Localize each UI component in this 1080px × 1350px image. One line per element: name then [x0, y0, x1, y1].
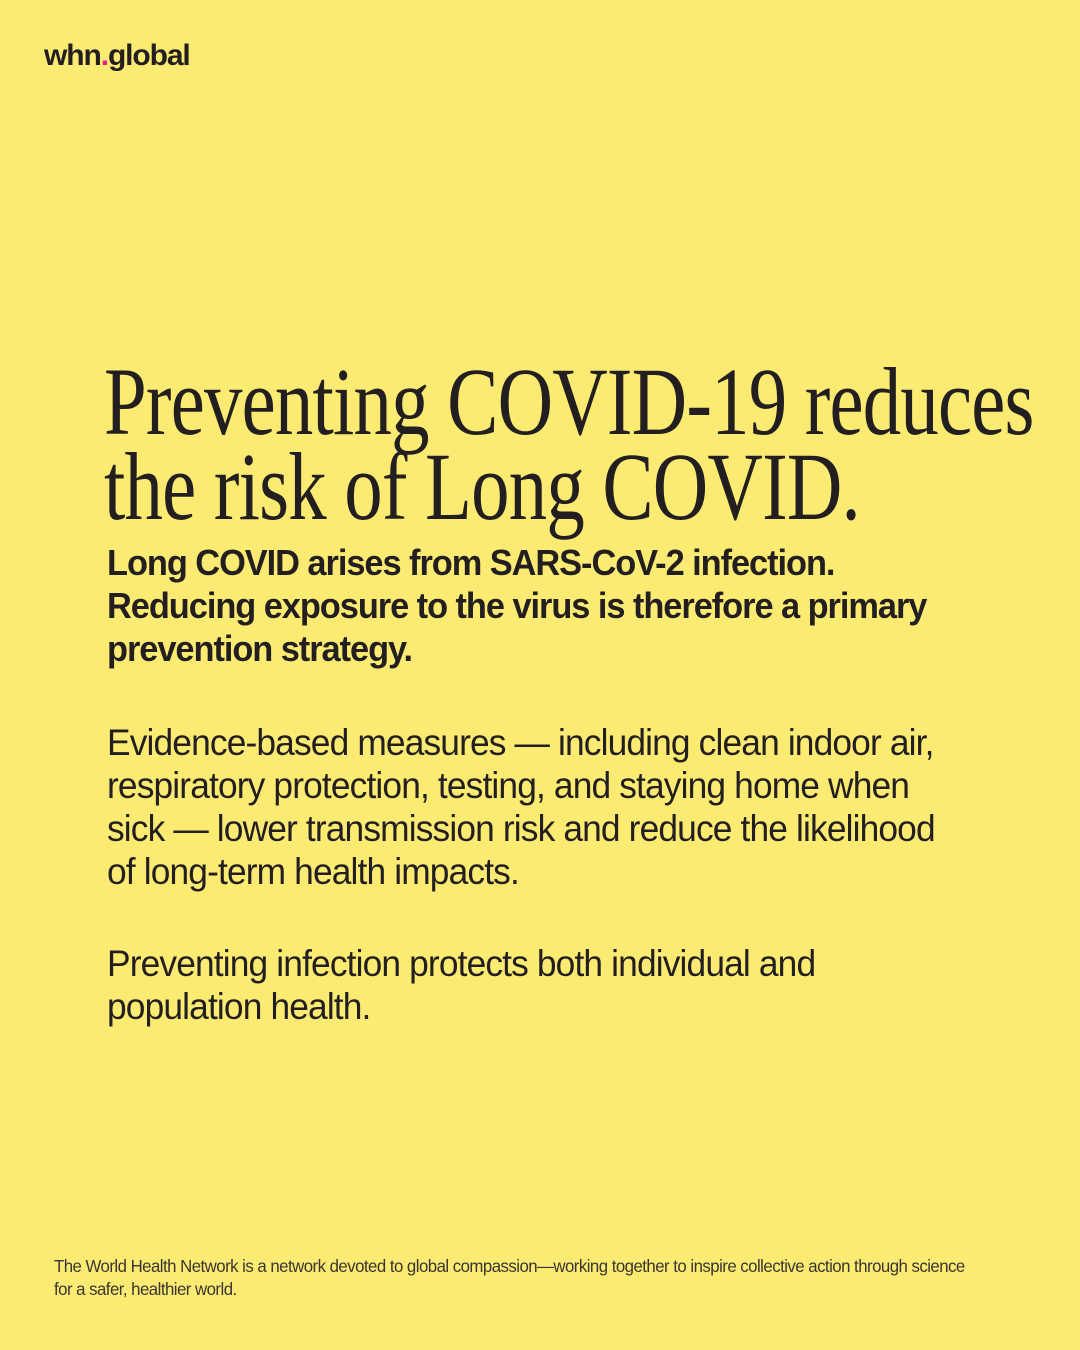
paragraph-3: Preventing infection protects both indiv… — [107, 942, 940, 1029]
brand-logo[interactable]: whn.global — [44, 41, 190, 71]
body-copy: Long COVID arises from SARS-CoV-2 infect… — [107, 541, 979, 1028]
footer-disclaimer: The World Health Network is a network de… — [54, 1255, 976, 1301]
logo-text-whn: whn — [44, 41, 101, 71]
paragraph-spacer-1 — [107, 671, 979, 721]
paragraph-2: Evidence-based measures — including clea… — [107, 721, 940, 894]
headline-line-2: the risk of Long COVID. — [104, 445, 792, 529]
page-title: Preventing COVID-19 reduces the risk of … — [104, 360, 792, 529]
logo-text-global: global — [108, 41, 190, 71]
lead-paragraph: Long COVID arises from SARS-CoV-2 infect… — [107, 541, 940, 671]
poster-canvas: whn.global Preventing COVID-19 reduces t… — [0, 0, 1080, 1350]
logo-dot-icon: . — [101, 41, 108, 71]
paragraph-spacer-2 — [107, 894, 979, 942]
